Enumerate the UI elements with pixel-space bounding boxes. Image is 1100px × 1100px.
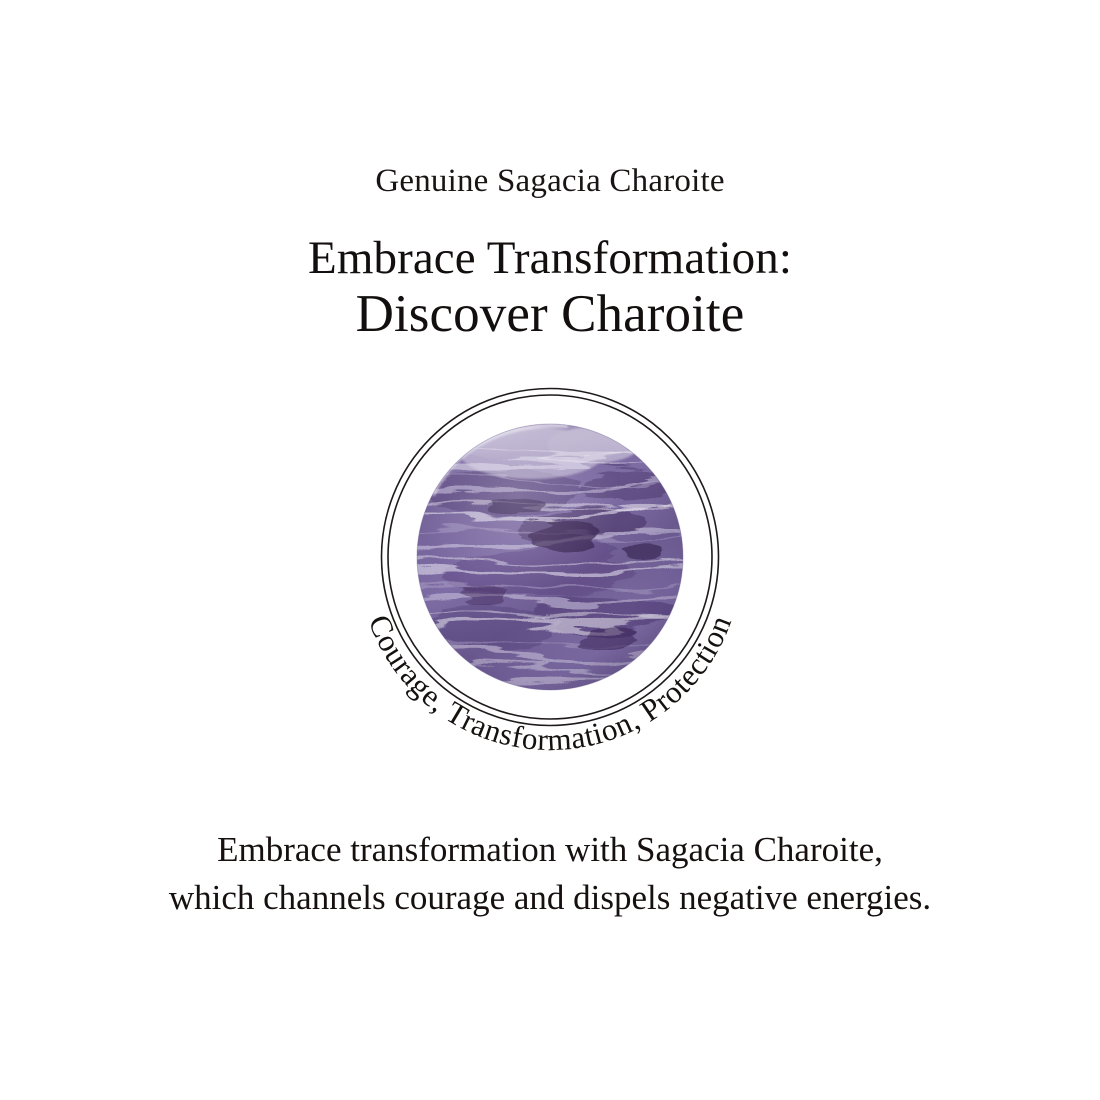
page-title: Embrace Transformation: Discover Charoit… xyxy=(0,232,1100,344)
brand-eyebrow: Genuine Sagacia Charoite xyxy=(0,163,1100,199)
headline-line-1: Embrace Transformation: xyxy=(0,232,1100,285)
body-copy-line-2: which channels courage and dispels negat… xyxy=(0,874,1100,922)
body-copy: Embrace transformation with Sagacia Char… xyxy=(0,826,1100,921)
charoite-stone xyxy=(400,403,712,697)
body-copy-line-1: Embrace transformation with Sagacia Char… xyxy=(0,826,1100,874)
emblem-graphic: Courage, Transformation, Protection xyxy=(330,337,770,777)
product-banner: Genuine Sagacia Charoite Embrace Transfo… xyxy=(0,0,1100,1100)
headline-line-2: Discover Charoite xyxy=(0,285,1100,344)
